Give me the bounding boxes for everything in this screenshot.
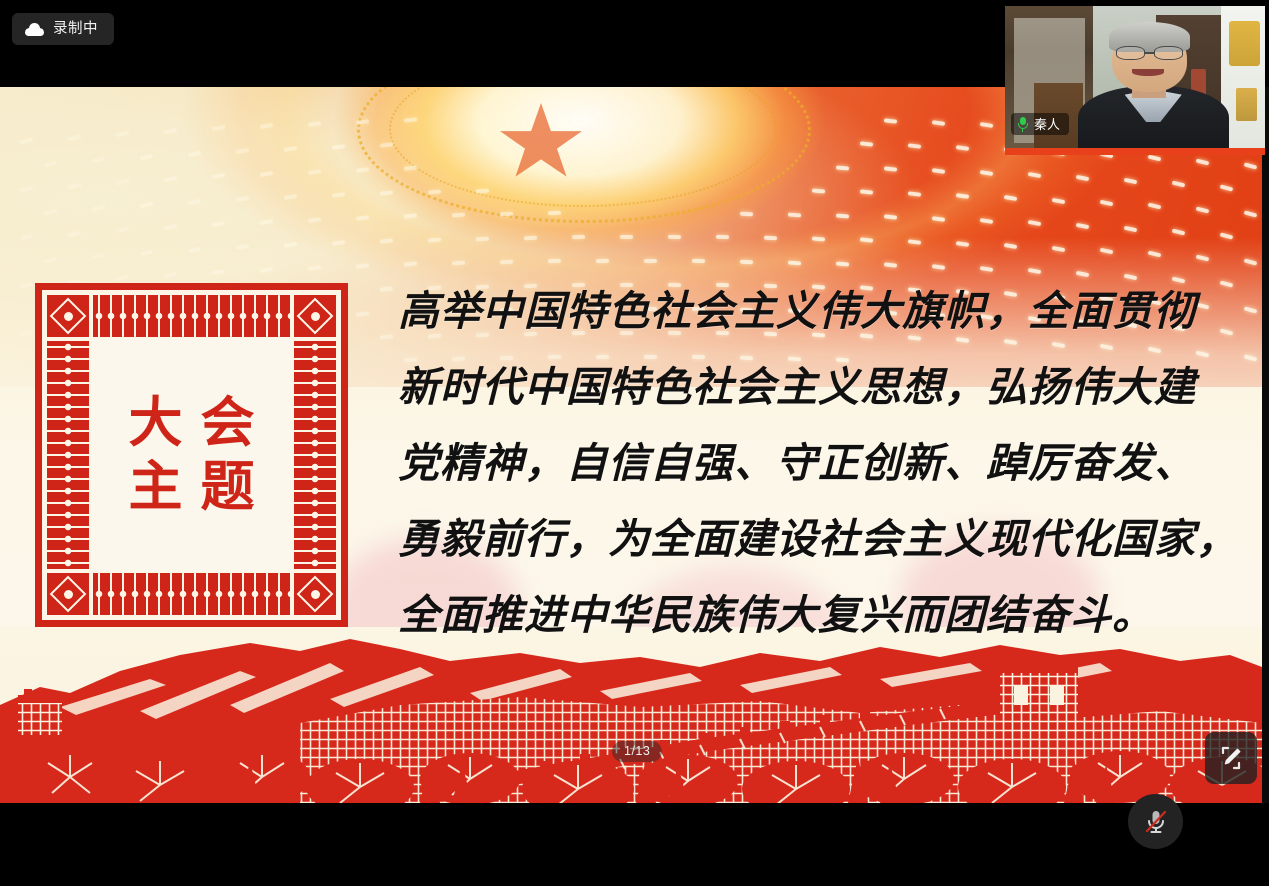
recording-badge-label: 录制中 [53, 22, 98, 37]
papercut-great-wall-artwork [0, 627, 1262, 803]
microphone-icon [1017, 117, 1028, 132]
seal-character: 主 [129, 460, 183, 514]
participant-name-tag: 秦人 [1011, 113, 1069, 135]
conference-theme-seal: 大会主题 [35, 283, 348, 627]
cloud-icon [25, 23, 44, 36]
slide-text-line: 勇毅前行，为全面建设社会主义现代化国家， [398, 501, 1228, 577]
seal-face: 大会主题 [91, 339, 292, 571]
seal-character: 题 [201, 460, 255, 514]
shared-slide[interactable]: 大会主题 高举中国特色社会主义伟大旗帜，全面贯彻新时代中国特色社会主义思想，弘扬… [0, 87, 1262, 803]
papercut-svg [0, 627, 1262, 803]
pencil-annotate-icon [1217, 744, 1245, 772]
screen-share-stage: 录制中 秦人 [0, 0, 1269, 886]
slide-body-text: 高举中国特色社会主义伟大旗帜，全面贯彻新时代中国特色社会主义思想，弘扬伟大建党精… [398, 273, 1228, 653]
page-indicator: 1/13 [612, 741, 662, 762]
seal-characters: 大会主题 [129, 396, 255, 514]
self-view-video-tile[interactable]: 秦人 [1005, 6, 1265, 155]
recording-badge: 录制中 [12, 13, 114, 45]
slide-text-line: 新时代中国特色社会主义思想，弘扬伟大建 [398, 349, 1228, 425]
annotate-button[interactable] [1205, 732, 1257, 784]
slide-text-line: 全面推进中华民族伟大复兴而团结奋斗。 [398, 577, 1228, 653]
participant-name: 秦人 [1034, 118, 1060, 131]
bottom-bar [0, 803, 1269, 886]
mute-button[interactable] [1128, 794, 1183, 849]
slide-text-line: 高举中国特色社会主义伟大旗帜，全面贯彻 [398, 273, 1228, 349]
microphone-muted-icon [1141, 807, 1171, 837]
seal-character: 会 [201, 396, 255, 450]
seal-character: 大 [129, 396, 183, 450]
letterbox-right [1262, 87, 1269, 803]
slide-text-line: 党精神，自信自强、守正创新、踔厉奋发、 [398, 425, 1228, 501]
